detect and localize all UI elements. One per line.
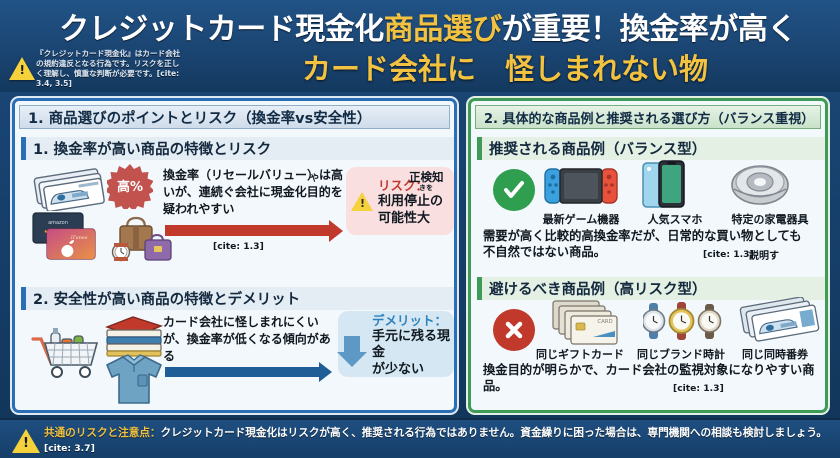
- svg-text:amazon: amazon: [48, 220, 68, 226]
- footer-text: 共通のリスクと注意点：クレジットカード現金化はリスクが高く、推奨される行為ではあ…: [44, 426, 834, 457]
- robot-vacuum-icon: [729, 159, 791, 213]
- footer-cite: [cite: 3.7]: [44, 443, 95, 454]
- game-console-icon: [543, 163, 619, 213]
- bad-item-label-2: 同じ同時番券: [727, 346, 823, 362]
- good-item-label-0: 最新ゲーム機器: [529, 211, 633, 227]
- demerit-callout-line2: が少ない: [372, 362, 454, 378]
- gift-cards-stack-icon: CARD: [543, 299, 627, 353]
- right-good-cite: [cite: 1.3]: [703, 249, 754, 260]
- down-arrow-icon: [344, 336, 360, 352]
- polo-shirt-icon: [101, 353, 167, 409]
- warning-triangle-icon: [12, 429, 40, 453]
- svg-text:高%: 高%: [117, 179, 143, 195]
- header-banner: クレジットカード現金化商品選びが重要！換金率が高く カード会社に 怪しまれない物…: [0, 0, 840, 92]
- warning-triangle-icon: [9, 57, 35, 80]
- right-panel-title: 2. 具体的な商品例と推奨される選び方（バランス重視）: [475, 105, 821, 129]
- risk-callout-ghost-b: きを: [419, 183, 433, 193]
- left-section1-body: 換金率（リセールバリュー）は高いが、連続ぐ会社に現金化目的を疑われやすい: [163, 167, 353, 218]
- warning-triangle-icon: [351, 192, 373, 211]
- tickets-icon: [739, 297, 821, 351]
- demerit-callout: デメリット： 手元に残る現金 が少ない: [338, 311, 454, 377]
- infographic-page: クレジットカード現金化商品選びが重要！換金率が高く カード会社に 怪しまれない物…: [0, 0, 840, 458]
- risk-arrow-icon: [165, 225, 330, 236]
- header-title-line1: クレジットカード現金化商品選びが重要！換金率が高く: [28, 4, 828, 48]
- right-bad-body: 換金目的が明らかで、カード会社の監視対象になりやすい商品。: [483, 363, 819, 395]
- left-section1-ghost-overlap: や: [310, 171, 319, 184]
- left-panel: 1. 商品選びのポイントとリスク（換金率vs安全性） 1. 換金率が高い商品の特…: [12, 98, 457, 413]
- high-rate-badge-icon: 高%: [107, 163, 153, 213]
- left-section2-body: カード会社に怪しまれにくいが、換金率が低くなる傾向がある: [163, 314, 331, 365]
- left-section2-heading: 2. 安全性が高い商品の特徴とデメリット: [21, 287, 454, 310]
- right-bad-cite: [cite: 1.3]: [673, 383, 724, 394]
- header-warning-note: 『クレジットカード現金化』はカード会社の規約違反となる行為です。リスクを正しく理…: [36, 49, 186, 89]
- demerit-callout-head: デメリット：: [372, 310, 454, 329]
- good-item-label-2: 特定の家電器具: [717, 211, 823, 227]
- shinkansen-ticket-icon: [33, 167, 107, 215]
- left-section1-heading: 1. 換金率が高い商品の特徴とリスク: [21, 137, 454, 160]
- bad-item-label-1: 同じブランド時計: [631, 346, 731, 362]
- gift-card-icon: amazon iTunes: [31, 211, 103, 265]
- demerit-callout-line1: 手元に残る現金: [372, 329, 454, 361]
- risk-callout-line1: 利用停止の: [378, 194, 443, 210]
- shopping-cart-icon: [29, 317, 109, 385]
- footer-body: クレジットカード現金化はリスクが高く、推奨される行為ではありません。資金繰りに困…: [161, 427, 827, 439]
- header-title-part-b: が重要！換金率が高く: [502, 12, 797, 47]
- left-section1-cite: [cite: 1.3]: [213, 241, 264, 252]
- right-good-ghost-overlap: 説明す: [749, 247, 779, 262]
- svg-text:CARD: CARD: [597, 319, 612, 325]
- left-panel-title: 1. 商品選びのポイントとリスク（換金率vs安全性）: [19, 105, 450, 129]
- header-title-part-a: クレジットカード現金化: [59, 12, 384, 47]
- watches-icon: [643, 299, 729, 351]
- footer-label: 共通のリスクと注意点：: [44, 427, 161, 439]
- risk-callout-line2: 可能性大: [378, 211, 443, 227]
- good-item-label-1: 人気スマホ: [633, 211, 717, 227]
- bad-item-label-0: 同じギフトカード: [527, 346, 633, 362]
- header-title-highlight: 商品選び: [384, 12, 502, 47]
- check-circle-icon: [493, 169, 535, 211]
- cross-circle-icon: [493, 309, 535, 351]
- smartphone-icon: [639, 159, 691, 215]
- right-good-heading: 推奨される商品例（バランス型）: [477, 137, 825, 160]
- brand-bag-icon: [107, 211, 177, 267]
- right-panel: 2. 具体的な商品例と推奨される選び方（バランス重視） 推奨される商品例（バラン…: [468, 98, 828, 413]
- safety-arrow-icon: [165, 367, 320, 377]
- header-title-line2: カード会社に 怪しまれない物: [180, 46, 830, 88]
- footer-banner: 共通のリスクと注意点：クレジットカード現金化はリスクが高く、推奨される行為ではあ…: [0, 418, 840, 458]
